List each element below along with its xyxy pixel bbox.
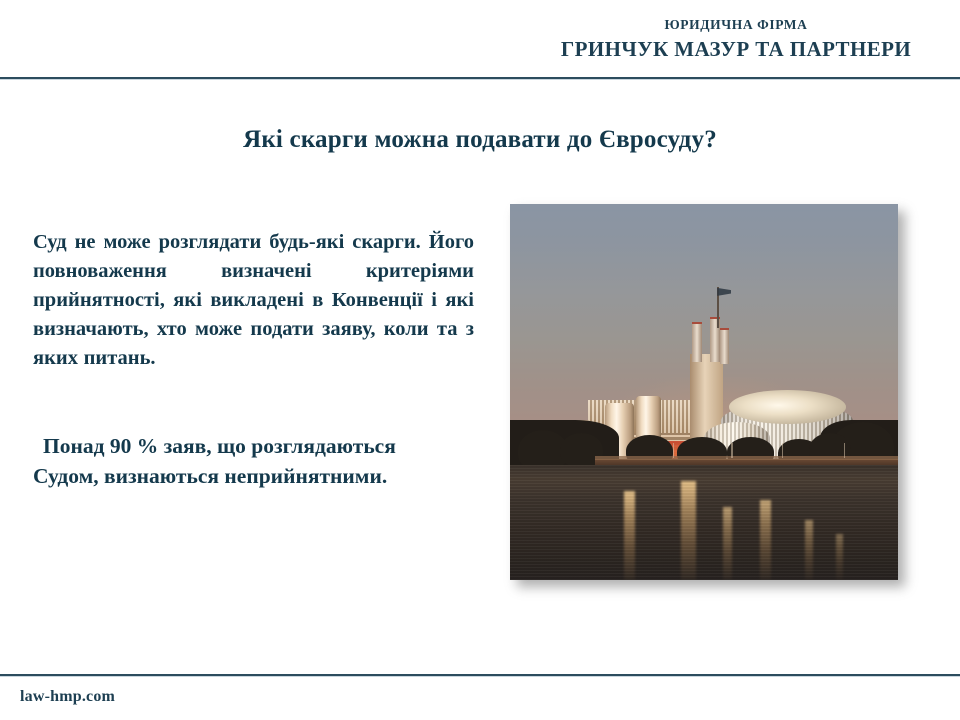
photo-chimney-3 xyxy=(720,328,729,364)
photo-frame xyxy=(510,204,898,580)
firm-name: ГРИНЧУК МАЗУР ТА ПАРТНЕРИ xyxy=(526,36,946,62)
header-divider-rule xyxy=(0,77,960,80)
photo-chimney-1 xyxy=(692,322,702,362)
photo-bridge-lamp xyxy=(731,443,733,458)
photo-river xyxy=(510,465,898,580)
slide-canvas: ЮРИДИЧНА ФІРМА ГРИНЧУК МАЗУР ТА ПАРТНЕРИ… xyxy=(0,0,960,720)
photo-bridge-lamp xyxy=(782,443,784,458)
photo-rotunda-roof xyxy=(729,390,845,424)
slide-title: Які скарги можна подавати до Євросуду? xyxy=(0,126,960,154)
footer-divider-rule xyxy=(0,674,960,677)
photo-water-ripples xyxy=(510,465,898,580)
photo-bridge-lamp xyxy=(844,443,846,458)
body-paragraph-1: Суд не може розглядати будь-які скарги. … xyxy=(33,228,474,373)
firm-kicker: ЮРИДИЧНА ФІРМА xyxy=(526,18,946,33)
footer-website-url[interactable]: law-hmp.com xyxy=(20,688,115,706)
photo-bridge-lamp xyxy=(673,443,675,458)
body-text-block: Суд не може розглядати будь-які скарги. … xyxy=(33,228,474,373)
echr-building-photo xyxy=(510,204,898,580)
photo-bridge-railing xyxy=(595,456,898,460)
firm-logo-header: ЮРИДИЧНА ФІРМА ГРИНЧУК МАЗУР ТА ПАРТНЕРИ xyxy=(526,18,946,62)
body-paragraph-2-highlight: Понад 90 % заяв, що розглядаються Судом,… xyxy=(33,431,453,491)
